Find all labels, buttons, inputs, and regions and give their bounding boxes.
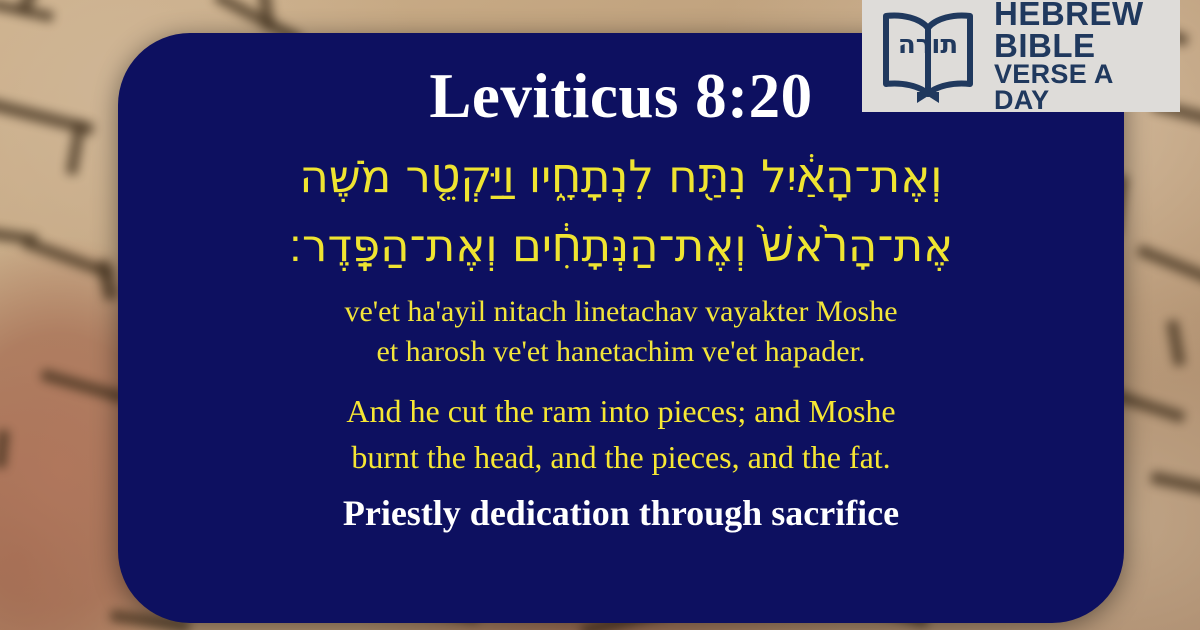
page-title: Leviticus 8:20: [429, 63, 812, 129]
transliteration-line-1: ve'et ha'ayil nitach linetachav vayakter…: [344, 292, 897, 332]
open-book-torah-icon: תורה: [876, 8, 980, 104]
verse-card: Leviticus 8:20 וְאֶת־הָאַ֔יִל נִתַּ֖ח לִ…: [118, 33, 1124, 623]
verse-poster: Leviticus 8:20 וְאֶת־הָאַ֔יִל נִתַּ֖ח לִ…: [0, 0, 1200, 630]
hebrew-line-2: אֶת־הָרֹ֙אשׁ֙ וְאֶת־הַנְּתָחִ֔ים וְאֶת־ה…: [141, 212, 1101, 280]
translation-line-2: burnt the head, and the pieces, and the …: [346, 435, 895, 480]
transliteration: ve'et ha'ayil nitach linetachav vayakter…: [344, 292, 897, 371]
english-translation: And he cut the ram into pieces; and Mosh…: [346, 389, 895, 480]
torah-hebrew-label: תורה: [876, 30, 980, 60]
brand-logo: תורה HEBREW BIBLE VERSE A DAY: [862, 0, 1180, 112]
brand-line-2: BIBLE: [994, 30, 1172, 62]
verse-theme: Priestly dedication through sacrifice: [343, 492, 899, 534]
brand-line-1: HEBREW: [994, 0, 1172, 30]
hebrew-verse: וְאֶת־הָאַ֔יִל נִתַּ֖ח לִנְתָחָ֑יו וַיַּ…: [141, 143, 1101, 280]
transliteration-line-2: et harosh ve'et hanetachim ve'et hapader…: [344, 332, 897, 372]
brand-line-3: VERSE A DAY: [994, 62, 1172, 114]
translation-line-1: And he cut the ram into pieces; and Mosh…: [346, 389, 895, 434]
hebrew-line-1: וְאֶת־הָאַ֔יִל נִתַּ֖ח לִנְתָחָ֑יו וַיַּ…: [141, 143, 1101, 211]
brand-wordmark: HEBREW BIBLE VERSE A DAY: [994, 0, 1172, 114]
